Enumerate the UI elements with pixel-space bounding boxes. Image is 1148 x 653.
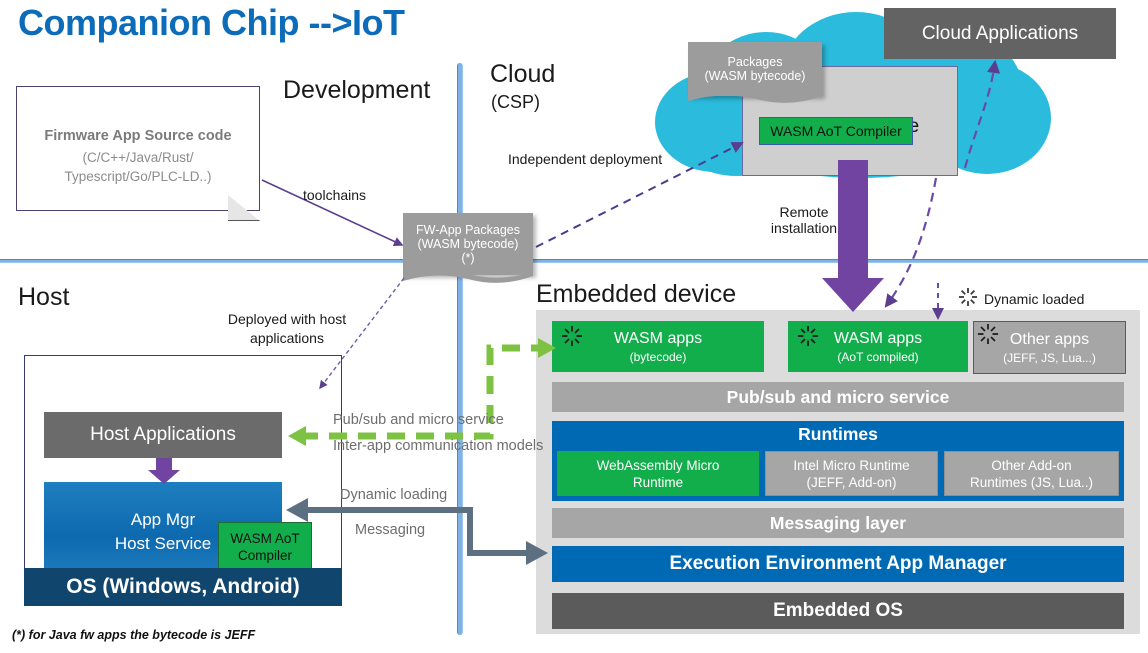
embedded-app-wasm-aot[interactable]: WASM apps (AoT compiled) <box>788 321 968 372</box>
embedded-runtime-intel[interactable]: Intel Micro Runtime (JEFF, Add-on) <box>765 451 938 496</box>
firmware-source-langs-line2: Typescript/Go/PLC-LD..) <box>64 167 211 186</box>
section-subheading-csp: (CSP) <box>491 92 540 113</box>
embedded-band-pubsub: Pub/sub and micro service <box>552 382 1124 412</box>
arrow-device-to-cloud <box>886 178 936 306</box>
embedded-app-wasm-bytecode-label: WASM apps <box>614 330 702 348</box>
callout-cloud-packages-line2: (WASM bytecode) <box>705 69 806 83</box>
callout-fw-packages-line1: FW-App Packages <box>416 223 520 237</box>
label-remote-installation-line2: installation <box>771 220 837 236</box>
host-aot-line2: Compiler <box>238 547 292 564</box>
section-heading-embedded-device: Embedded device <box>536 280 736 309</box>
callout-fw-packages-line3: (*) <box>461 251 474 265</box>
embedded-device-panel: WASM apps (bytecode) WASM apps (AoT comp… <box>536 310 1140 634</box>
embedded-app-wasm-bytecode-sub: (bytecode) <box>630 350 687 364</box>
embedded-app-wasm-aot-label: WASM apps <box>834 330 922 348</box>
host-wasm-aot-compiler-box[interactable]: WASM AoT Compiler <box>218 522 312 571</box>
host-aot-line1: WASM AoT <box>230 530 299 547</box>
label-remote-installation-line1: Remote <box>779 204 828 220</box>
firmware-source-langs-line1: (C/C++/Java/Rust/ <box>64 148 211 167</box>
host-applications-box[interactable]: Host Applications <box>44 412 282 458</box>
callout-fw-packages-line2: (WASM bytecode) <box>418 237 519 251</box>
firmware-source-title: Firmware App Source code <box>44 128 231 144</box>
footnote: (*) for Java fw apps the bytecode is JEF… <box>12 628 255 642</box>
label-toolchains: toolchains <box>303 187 366 203</box>
embedded-runtime-wamr[interactable]: WebAssembly Micro Runtime <box>557 451 759 496</box>
cloud-wasm-aot-compiler-box[interactable]: WASM AoT Compiler <box>759 117 913 145</box>
horizontal-divider <box>0 259 1148 263</box>
label-dynamic-loaded: Dynamic loaded <box>984 291 1084 307</box>
dynamic-loaded-legend-icon <box>959 288 977 306</box>
vertical-divider <box>457 63 463 635</box>
callout-fw-app-packages: FW-App Packages (WASM bytecode) (*) <box>403 213 533 275</box>
embedded-band-runtimes: Runtimes <box>552 421 1124 447</box>
embedded-band-app-manager: Execution Environment App Manager <box>552 546 1124 582</box>
embedded-runtime-other-line1: Other Add-on <box>991 457 1071 474</box>
embedded-runtime-other[interactable]: Other Add-on Runtimes (JS, Lua..) <box>944 451 1119 496</box>
embedded-app-other-label: Other apps <box>1010 331 1089 349</box>
label-deployed-line2: applications <box>250 329 324 348</box>
label-deployed-line1: Deployed with host <box>228 310 346 329</box>
label-pubsub-microservice: Pub/sub and micro service <box>333 412 504 428</box>
section-heading-development: Development <box>283 76 430 105</box>
cloud-applications-box[interactable]: Cloud Applications <box>884 8 1116 59</box>
page-title: Companion Chip -->IoT <box>18 2 404 44</box>
embedded-runtimes-group: Runtimes WebAssembly Micro Runtime Intel… <box>552 421 1124 501</box>
host-os-bar: OS (Windows, Android) <box>24 568 342 606</box>
embedded-app-other-sub: (JEFF, JS, Lua...) <box>1003 351 1096 365</box>
embedded-runtime-other-line2: Runtimes (JS, Lua..) <box>970 474 1093 491</box>
section-heading-cloud: Cloud <box>490 60 555 89</box>
firmware-source-langs: (C/C++/Java/Rust/ Typescript/Go/PLC-LD..… <box>64 148 211 186</box>
callout-cloud-packages: Packages (WASM bytecode) <box>688 42 822 96</box>
callout-cloud-packages-line1: Packages <box>728 55 783 69</box>
label-dynamic-loading: Dynamic loading <box>340 487 447 503</box>
label-interapp-communication-models: Inter-app communication models <box>333 438 543 454</box>
label-remote-installation: Remote installation <box>756 204 852 236</box>
embedded-runtime-intel-line2: (JEFF, Add-on) <box>806 474 896 491</box>
embedded-band-os: Embedded OS <box>552 593 1124 629</box>
firmware-source-box: Firmware App Source code (C/C++/Java/Rus… <box>16 86 260 211</box>
label-messaging: Messaging <box>355 522 425 538</box>
host-app-mgr-line1: App Mgr <box>131 508 195 532</box>
host-app-mgr-line2: Host Service <box>115 532 211 556</box>
embedded-band-messaging: Messaging layer <box>552 508 1124 538</box>
embedded-runtime-intel-line1: Intel Micro Runtime <box>793 457 909 474</box>
embedded-app-wasm-aot-sub: (AoT compiled) <box>837 350 918 364</box>
section-heading-host: Host <box>18 283 69 312</box>
label-deployed-with-host-apps: Deployed with host applications <box>200 310 374 348</box>
embedded-runtime-wamr-line1: WebAssembly Micro <box>597 457 720 474</box>
embedded-runtime-wamr-line2: Runtime <box>633 474 683 491</box>
embedded-app-other[interactable]: Other apps (JEFF, JS, Lua...) <box>973 321 1126 374</box>
label-independent-deployment: Independent deployment <box>508 151 662 167</box>
embedded-app-wasm-bytecode[interactable]: WASM apps (bytecode) <box>552 321 764 372</box>
